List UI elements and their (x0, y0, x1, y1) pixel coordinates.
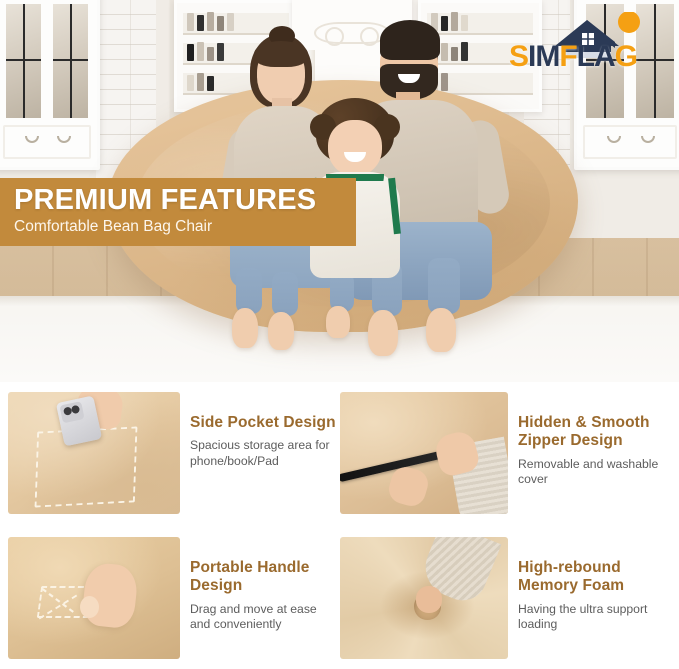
feature-image-memory-foam (340, 537, 508, 659)
logo-letter-g: G (615, 40, 637, 73)
feature-card-memory-foam: High-rebound Memory Foam Having the ultr… (340, 537, 670, 667)
brand-wordmark: SIMFLAG (509, 42, 637, 72)
feature-image-side-pocket (8, 392, 180, 514)
feature-description: Drag and move at ease and conveniently (190, 602, 338, 634)
feature-description: Having the ultra support loading (518, 602, 670, 634)
banner-title: PREMIUM FEATURES (14, 185, 356, 215)
cabinet-drawer (3, 125, 91, 159)
logo-letter-im: IM (528, 40, 559, 73)
logo-letter-la: LA (577, 40, 615, 73)
cabinet-drawer (583, 125, 677, 159)
feature-title: Hidden & Smooth Zipper Design (518, 414, 670, 451)
feature-title: High-rebound Memory Foam (518, 559, 670, 596)
banner: PREMIUM FEATURES Comfortable Bean Bag Ch… (0, 178, 356, 246)
sun-icon (618, 12, 640, 33)
logo-letter-f: F (559, 40, 576, 73)
feature-title: Portable Handle Design (190, 559, 338, 596)
banner-subtitle: Comfortable Bean Bag Chair (14, 218, 356, 236)
feature-description: Spacious storage area for phone/book/Pad (190, 438, 338, 470)
feature-card-side-pocket: Side Pocket Design Spacious storage area… (8, 392, 338, 522)
cabinet-left (0, 0, 100, 170)
feature-title: Side Pocket Design (190, 414, 338, 432)
feature-grid: Side Pocket Design Spacious storage area… (0, 390, 679, 669)
brand-logo: SIMFLAG (503, 12, 671, 76)
feature-card-hidden-zipper: Hidden & Smooth Zipper Design Removable … (340, 392, 670, 522)
feature-image-hidden-zipper (340, 392, 508, 514)
feature-card-portable-handle: Portable Handle Design Drag and move at … (8, 537, 338, 667)
cabinet-glass-doors (3, 1, 91, 121)
feature-image-portable-handle (8, 537, 180, 659)
hero-image: PREMIUM FEATURES Comfortable Bean Bag Ch… (0, 0, 679, 382)
logo-letter-s: S (509, 40, 528, 73)
feature-description: Removable and washable cover (518, 457, 670, 489)
